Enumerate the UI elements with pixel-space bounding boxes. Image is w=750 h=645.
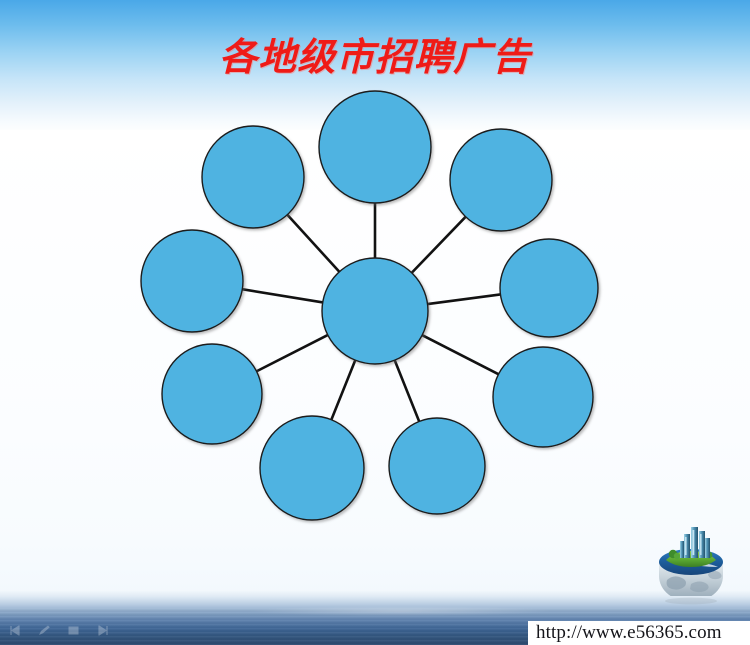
spoke-node-shape[interactable] — [450, 129, 552, 231]
center-node-group[interactable] — [322, 258, 428, 364]
spoke-node-left-lower[interactable] — [162, 344, 262, 444]
spoke-node-shape[interactable] — [260, 416, 364, 520]
spoke-node-right-upper[interactable] — [500, 239, 598, 337]
pen-icon[interactable] — [37, 624, 52, 637]
menu-icon[interactable] — [66, 624, 81, 637]
center-node-shape[interactable] — [322, 258, 428, 364]
next-slide-icon[interactable] — [95, 624, 110, 637]
spoke-node-right-lower[interactable] — [493, 347, 593, 447]
spoke-connector-top-left — [287, 214, 340, 273]
watermark-url-box: http://www.e56365.com — [528, 621, 750, 645]
spoke-connector-bottom-left — [331, 359, 356, 420]
spoke-node-bottom-left[interactable] — [260, 416, 364, 520]
watermark-url-text: http://www.e56365.com — [536, 622, 722, 644]
spoke-node-shape[interactable] — [162, 344, 262, 444]
spoke-node-top[interactable] — [319, 91, 431, 203]
spoke-connector-left-lower — [256, 335, 329, 372]
spoke-connector-left-upper — [241, 289, 323, 302]
spoke-node-shape[interactable] — [141, 230, 243, 332]
spoke-node-shape[interactable] — [319, 91, 431, 203]
spoke-connector-bottom-right — [394, 359, 419, 422]
spoke-node-bottom-right[interactable] — [389, 418, 485, 514]
spoke-connector-right-lower — [421, 335, 499, 375]
spoke-node-top-left[interactable] — [202, 126, 304, 228]
spoke-node-shape[interactable] — [202, 126, 304, 228]
spoke-node-shape[interactable] — [389, 418, 485, 514]
spoke-connector-top-right — [411, 216, 466, 273]
presentation-controls[interactable] — [8, 624, 110, 637]
slide-canvas: 各地级市招聘广告 — [0, 0, 750, 645]
hub-and-spoke-diagram — [0, 0, 750, 645]
spoke-node-top-right[interactable] — [450, 129, 552, 231]
spoke-connector-right-upper — [427, 294, 502, 304]
spoke-node-shape[interactable] — [493, 347, 593, 447]
spoke-node-left-upper[interactable] — [141, 230, 243, 332]
eco-globe-city-logo — [653, 522, 729, 606]
spoke-node-shape[interactable] — [500, 239, 598, 337]
previous-slide-icon[interactable] — [8, 624, 23, 637]
